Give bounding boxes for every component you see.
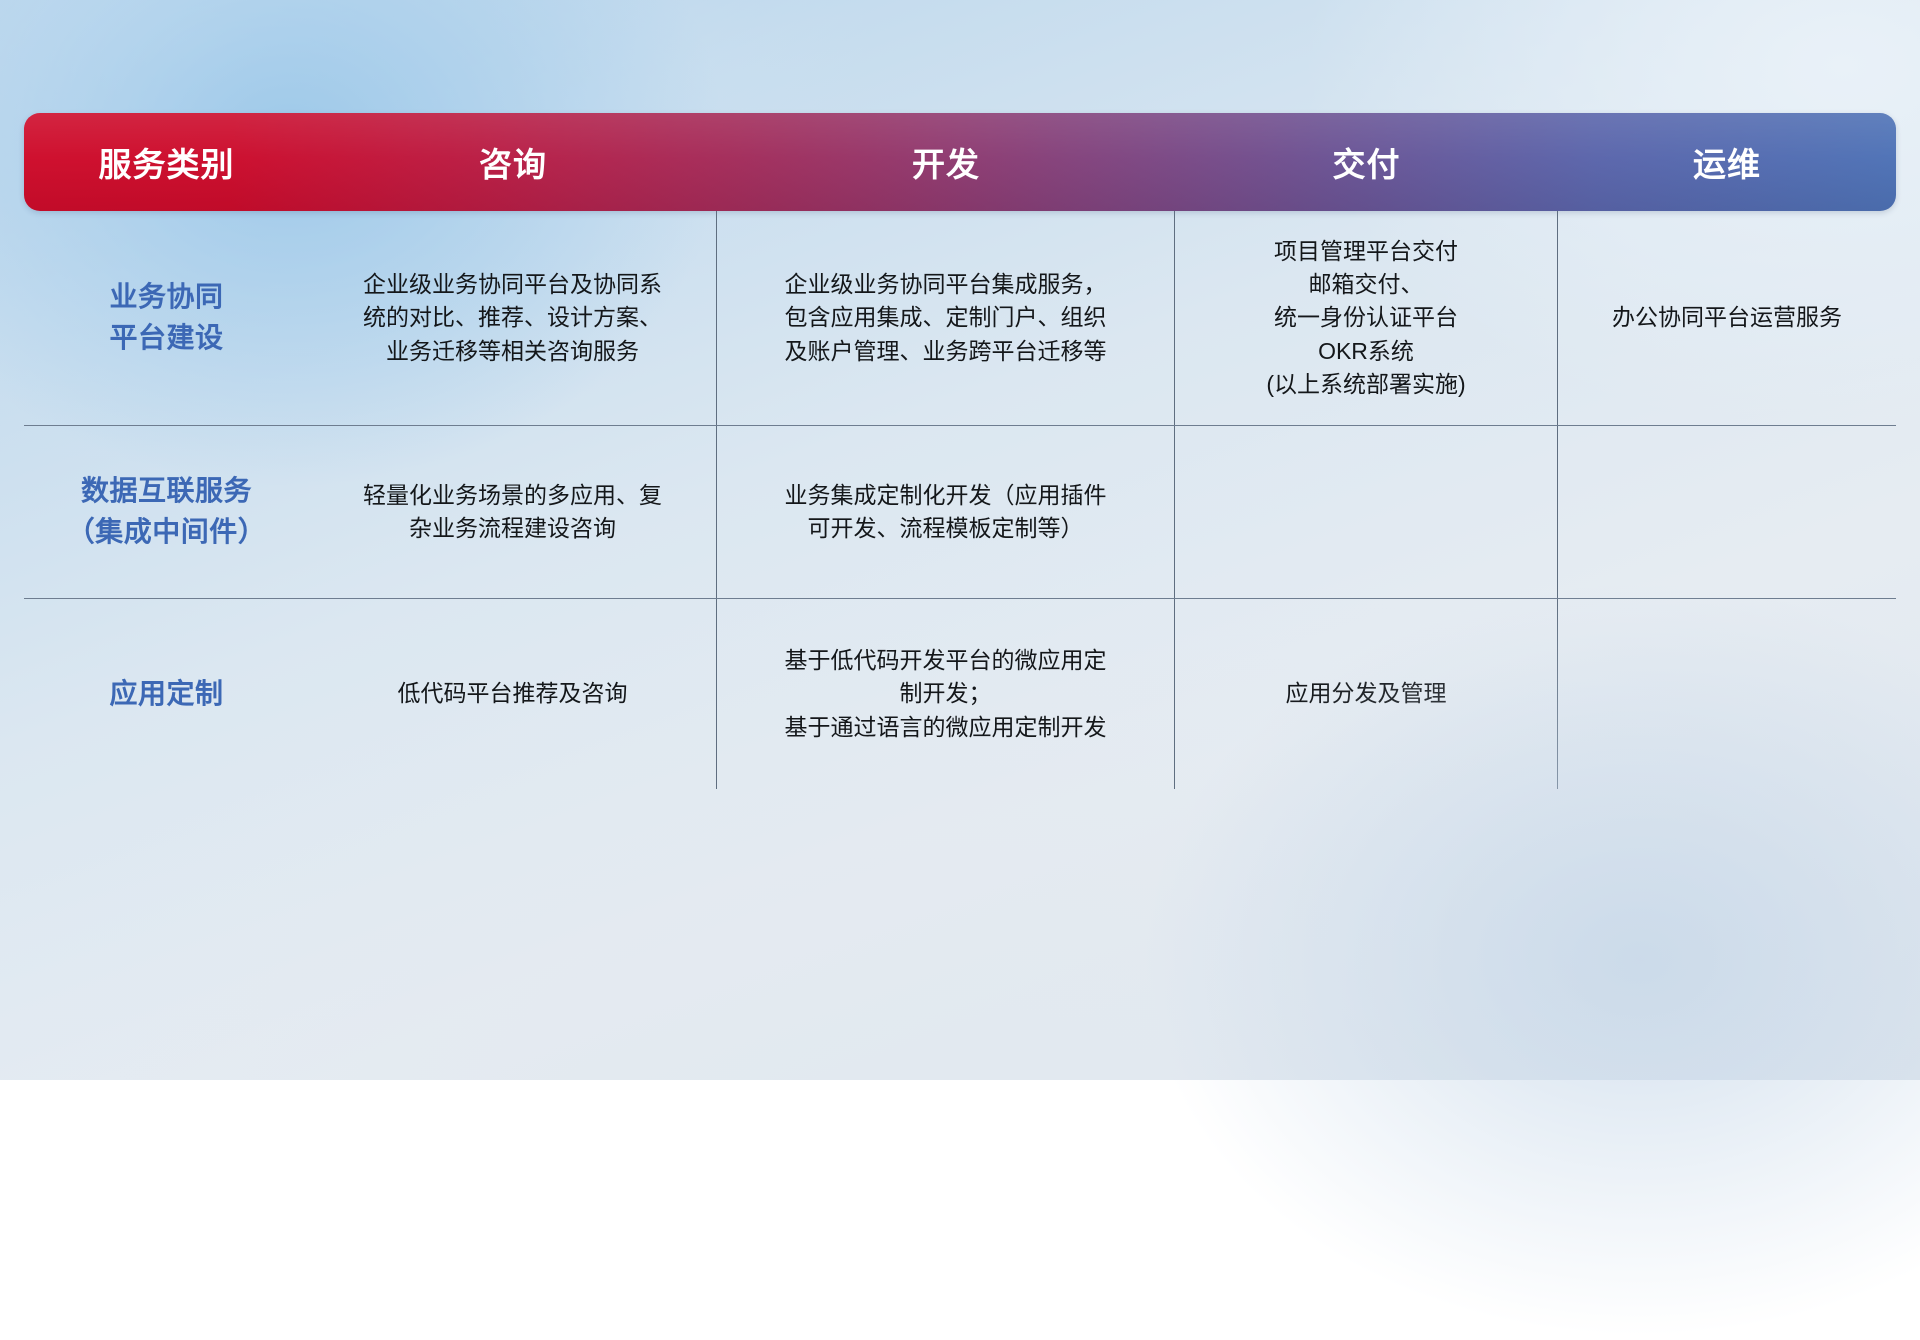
cell-development: 基于低代码开发平台的微应用定 制开发； 基于通过语言的微应用定制开发 xyxy=(717,599,1175,789)
row-category-label: 应用定制 xyxy=(24,599,309,789)
table-row: 业务协同 平台建设 企业级业务协同平台及协同系 统的对比、推荐、设计方案、 业务… xyxy=(24,211,1896,426)
column-header-development: 开发 xyxy=(717,113,1175,211)
cell-operations xyxy=(1558,599,1896,789)
column-header-operations: 运维 xyxy=(1558,113,1896,211)
table-row: 应用定制 低代码平台推荐及咨询 基于低代码开发平台的微应用定 制开发； 基于通过… xyxy=(24,599,1896,789)
table-body: 业务协同 平台建设 企业级业务协同平台及协同系 统的对比、推荐、设计方案、 业务… xyxy=(24,211,1896,789)
cell-operations xyxy=(1558,426,1896,598)
cell-delivery: 应用分发及管理 xyxy=(1175,599,1558,789)
slide-canvas: 服务类别 咨询 开发 交付 运维 业务协同 平台建设 企业级业务协同平台及协同系… xyxy=(0,0,1920,1080)
cell-consulting: 轻量化业务场景的多应用、复 杂业务流程建设咨询 xyxy=(309,426,717,598)
table-row: 数据互联服务 （集成中间件） 轻量化业务场景的多应用、复 杂业务流程建设咨询 业… xyxy=(24,426,1896,599)
column-header-delivery: 交付 xyxy=(1175,113,1558,211)
cell-consulting: 低代码平台推荐及咨询 xyxy=(309,599,717,789)
cell-development: 业务集成定制化开发（应用插件 可开发、流程模板定制等） xyxy=(717,426,1175,598)
column-header-consulting: 咨询 xyxy=(309,113,717,211)
table-header-row: 服务类别 咨询 开发 交付 运维 xyxy=(24,113,1896,211)
service-matrix-table: 服务类别 咨询 开发 交付 运维 业务协同 平台建设 企业级业务协同平台及协同系… xyxy=(24,113,1896,789)
cell-delivery: 项目管理平台交付 邮箱交付、 统一身份认证平台 OKR系统 (以上系统部署实施) xyxy=(1175,211,1558,425)
cell-development: 企业级业务协同平台集成服务， 包含应用集成、定制门户、组织 及账户管理、业务跨平… xyxy=(717,211,1175,425)
row-category-label: 数据互联服务 （集成中间件） xyxy=(24,426,309,598)
cell-consulting: 企业级业务协同平台及协同系 统的对比、推荐、设计方案、 业务迁移等相关咨询服务 xyxy=(309,211,717,425)
cell-operations: 办公协同平台运营服务 xyxy=(1558,211,1896,425)
column-header-category: 服务类别 xyxy=(24,113,309,211)
cell-delivery xyxy=(1175,426,1558,598)
row-category-label: 业务协同 平台建设 xyxy=(24,211,309,425)
